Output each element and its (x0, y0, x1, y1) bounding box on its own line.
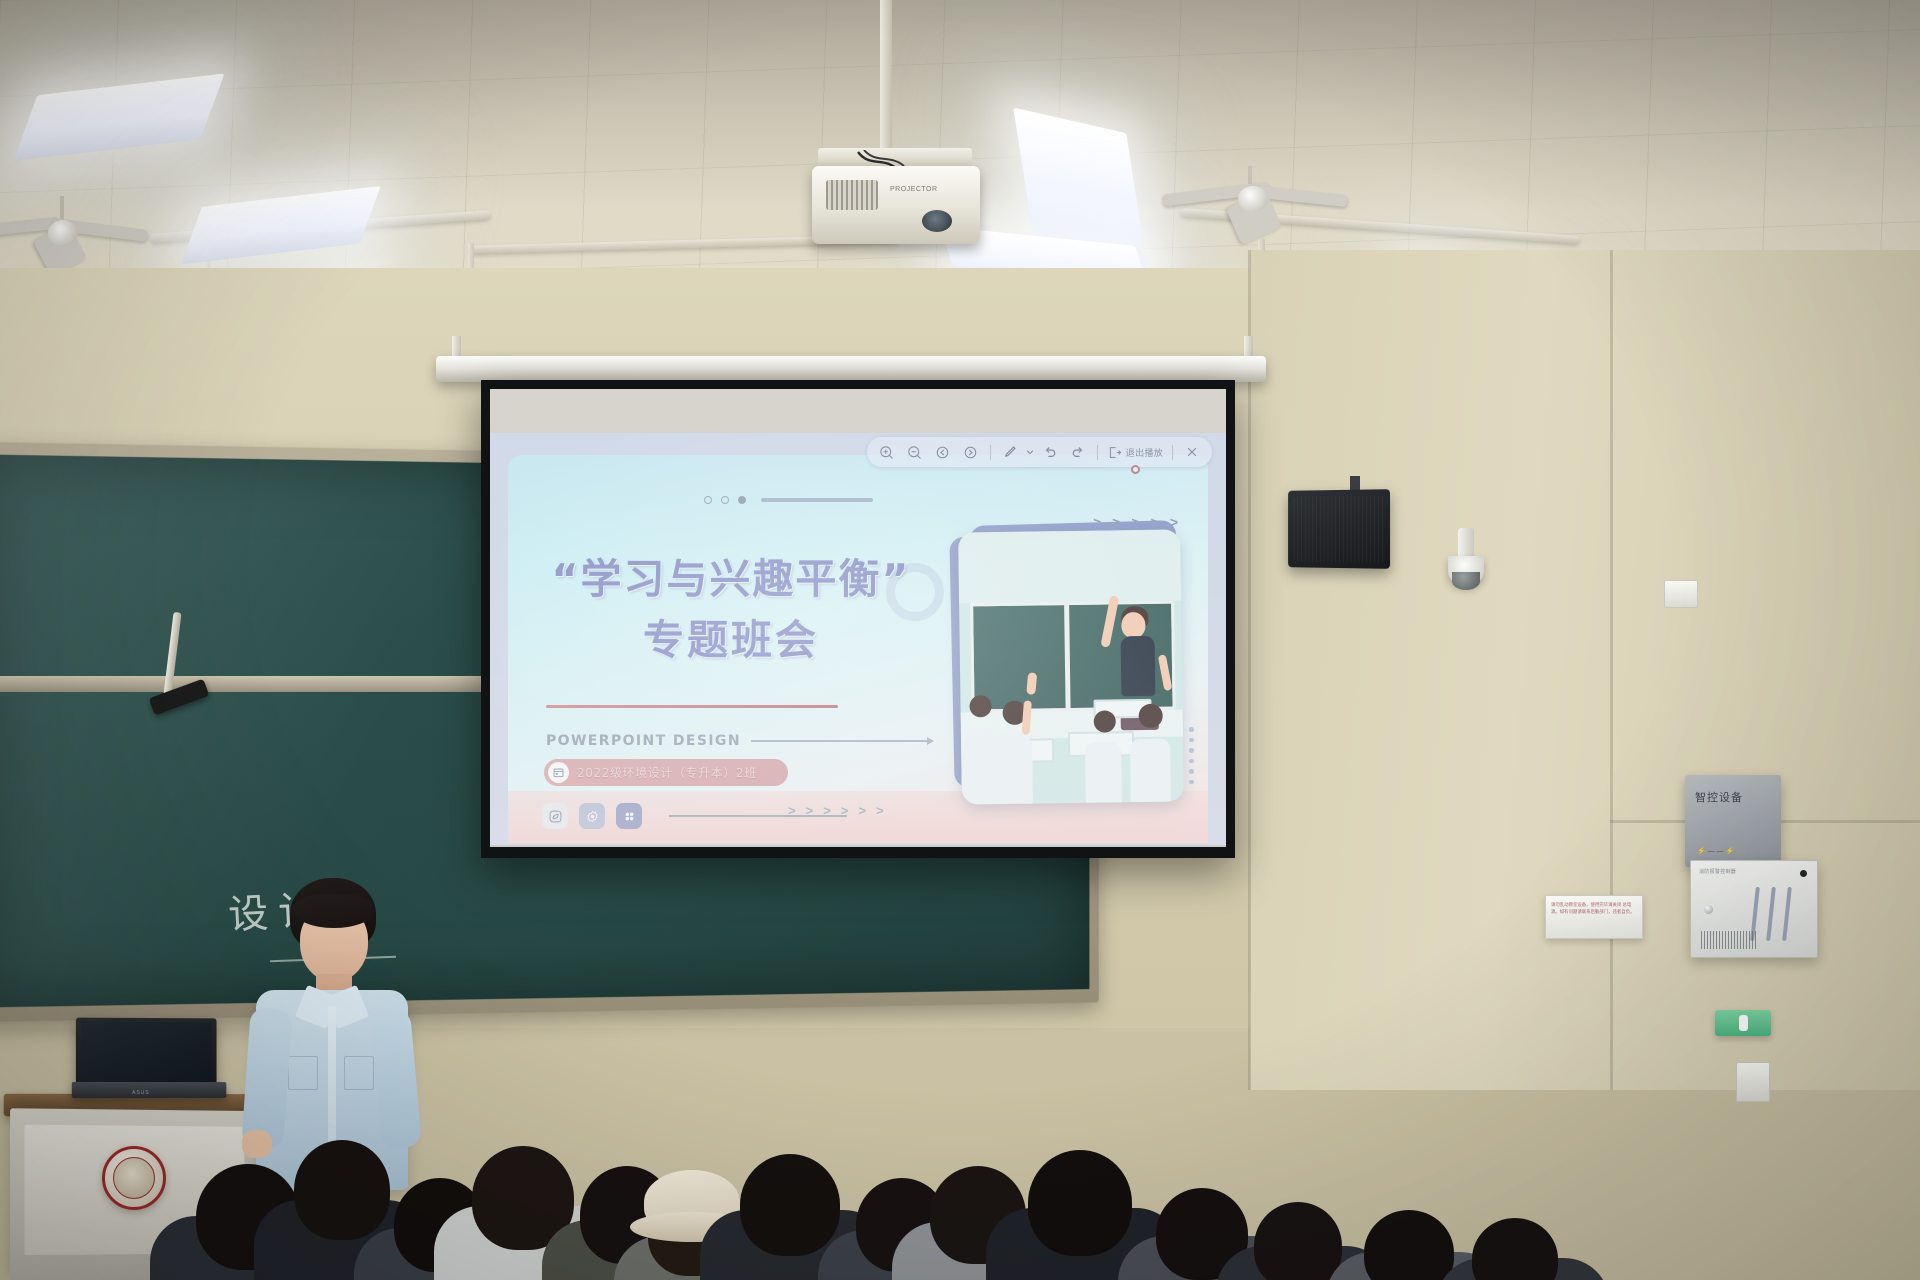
pen-icon[interactable] (996, 438, 1024, 466)
matrix-dot (1189, 780, 1194, 785)
illustration-student-body (992, 736, 1033, 805)
next-slide-icon[interactable] (957, 438, 985, 466)
ceiling-fan-left (0, 196, 140, 266)
matrix-dot (1189, 759, 1194, 764)
panel-barcode (1701, 931, 1757, 949)
projection-screen: > > > > > “学习与兴趣平衡” 专题班会 POWERPOINT D (481, 380, 1235, 858)
zoom-in-icon[interactable] (873, 438, 901, 466)
decorative-chevrons-bottom: > > > > > > (788, 803, 884, 818)
matrix-dot (1189, 727, 1194, 732)
zoom-out-icon[interactable] (901, 438, 929, 466)
slide-title-line2: 专题班会 (516, 618, 946, 663)
chevron-icon: > (876, 803, 884, 818)
audience-head (294, 1140, 390, 1240)
subtitle-arrow-line (751, 740, 933, 742)
illustration-teacher-body (1121, 636, 1156, 696)
chevron-down-icon[interactable] (1024, 438, 1036, 466)
audience-head (1472, 1218, 1558, 1280)
camera-stem (1458, 528, 1474, 558)
matrix-dot (1189, 748, 1194, 753)
wall-notice-text: 请勿乱动教室设备，使用完毕请关闭 总电源。如有问题请联系后勤部门，违者自负。 (1551, 901, 1638, 916)
wave-icon (1782, 887, 1792, 941)
audience-rows (0, 1060, 1920, 1280)
slide-title-block: “学习与兴趣平衡” 专题班会 (516, 557, 946, 663)
classroom-scene: PROJECTOR 设计 (0, 0, 1920, 1280)
exit-presentation-button[interactable]: 退出播放 (1103, 445, 1167, 460)
wall-outlet[interactable] (1664, 580, 1698, 608)
projection-screen-roller (436, 356, 1266, 382)
illustration-student-body (1130, 739, 1171, 802)
redo-icon[interactable] (1064, 438, 1092, 466)
fire-alarm-panel-label: 消防报警控制器 (1699, 868, 1736, 875)
projector-lens (922, 210, 952, 232)
illustration-student-head (1138, 704, 1162, 728)
audience-head (1028, 1150, 1132, 1256)
projector-vent (826, 180, 878, 210)
fan-hub (48, 220, 78, 246)
class-badge: 2022级环境设计（专升本）2班 (544, 759, 788, 786)
chevron-icon: > (823, 803, 831, 818)
wall-seam-vertical (1610, 250, 1613, 1090)
subtitle-row: POWERPOINT DESIGN (546, 733, 933, 749)
chevron-icon: > (841, 803, 849, 818)
close-icon[interactable] (1178, 438, 1206, 466)
audience-head (740, 1154, 840, 1256)
pagination-dot-1 (704, 496, 712, 504)
undo-icon[interactable] (1036, 438, 1064, 466)
subtitle-label: POWERPOINT DESIGN (546, 733, 741, 749)
leaf-icon (542, 803, 568, 829)
audience-head (1364, 1210, 1454, 1280)
fire-alarm-led (1800, 870, 1807, 877)
presentation-toolbar[interactable]: 退出播放 (867, 437, 1212, 467)
smart-control-box-label: 智控设备 (1695, 789, 1743, 805)
right-wall (1250, 250, 1920, 1090)
matrix-dot (1189, 738, 1194, 743)
projector-mount-rod (880, 0, 892, 150)
illustration-student-body (1085, 742, 1122, 802)
speaker-grill (1294, 495, 1384, 562)
pagination-dot-3 (738, 496, 746, 504)
pagination-dot-2 (721, 496, 729, 504)
chevron-icon: > (858, 803, 866, 818)
audience-head (1254, 1202, 1342, 1280)
gear-icon (579, 803, 605, 829)
toolbar-separator (1097, 445, 1098, 460)
fire-alarm-panel[interactable]: 消防报警控制器 (1690, 860, 1818, 958)
fan-rod (60, 196, 64, 222)
smart-control-box-sublabel: ⚡ — — ⚡ (1697, 847, 1734, 855)
exit-presentation-label: 退出播放 (1126, 446, 1163, 459)
wall-speaker (1288, 489, 1390, 569)
matrix-dot (1189, 769, 1194, 774)
class-badge-text: 2022级环境设计（专升本）2班 (577, 764, 757, 781)
recording-indicator (1131, 465, 1140, 474)
slide-pagination-dots (704, 496, 873, 504)
illustration-student-head (1094, 710, 1116, 732)
toolbar-separator (1172, 445, 1173, 460)
ceiling-projector: PROJECTOR (812, 166, 980, 244)
projected-slide-viewport: > > > > > “学习与兴趣平衡” 专题班会 POWERPOINT D (490, 433, 1226, 845)
dome-camera-lens (1452, 572, 1480, 590)
pagination-bar (761, 498, 873, 502)
slide-title-line1: “学习与兴趣平衡” (516, 557, 946, 602)
wave-icon (1766, 887, 1776, 941)
slide-photo-card (960, 531, 1182, 803)
presenter-fringe (294, 894, 374, 928)
wall-notice-sign: 请勿乱动教室设备，使用完毕请关闭 总电源。如有问题请联系后勤部门，违者自负。 (1545, 895, 1643, 939)
grid-icon (616, 803, 642, 829)
calendar-icon (548, 762, 569, 783)
powerpoint-slide: > > > > > “学习与兴趣平衡” 专题班会 POWERPOINT D (508, 455, 1208, 843)
prev-slide-icon[interactable] (929, 438, 957, 466)
projector-brand-label: PROJECTOR (890, 186, 938, 193)
ceiling-fan-right (1172, 166, 1332, 242)
chevron-icon: > (788, 803, 796, 818)
title-divider-rule (546, 705, 838, 708)
toolbar-separator (990, 445, 991, 460)
smart-control-box[interactable]: 智控设备 ⚡ — — ⚡ (1685, 775, 1781, 867)
fire-alarm-knob[interactable] (1704, 905, 1713, 914)
exit-sign (1715, 1010, 1771, 1036)
illustration-student-raised-hand (1026, 673, 1037, 696)
illustration-board-divider (1064, 605, 1070, 708)
exit-running-man-icon (1739, 1015, 1748, 1031)
fan-hub (1238, 186, 1268, 212)
chevron-icon: > (806, 803, 814, 818)
illustration-wall (958, 529, 1181, 603)
illustration-student-body (961, 728, 996, 805)
classroom-illustration (958, 529, 1184, 804)
projection-screen-surface: > > > > > “学习与兴趣平衡” 专题班会 POWERPOINT D (490, 389, 1226, 847)
